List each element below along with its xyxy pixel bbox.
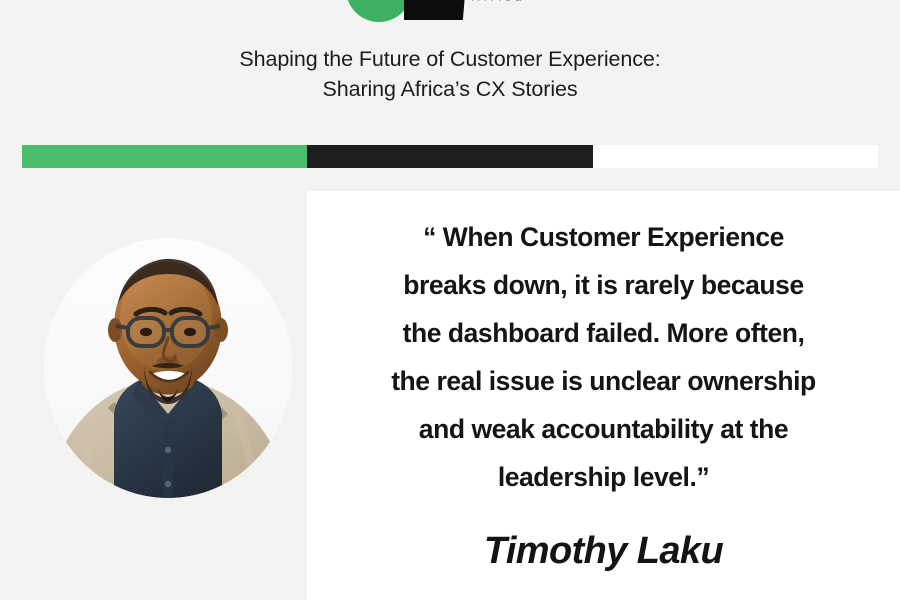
page-title: Shaping the Future of Customer Experienc…	[0, 44, 900, 104]
avatar	[44, 238, 292, 498]
speaker-name: Timothy Laku	[321, 527, 886, 575]
progress-bar	[22, 145, 878, 168]
quote-line-4: the real issue is unclear ownership	[391, 366, 816, 396]
quote-line-5: and weak accountability at the	[419, 414, 788, 444]
logo-green-circle-icon	[346, 0, 412, 22]
page-title-line-2: Sharing Africa’s CX Stories	[0, 74, 900, 104]
quote-line-6: leadership level.”	[498, 462, 709, 492]
quote-card: “ When Customer Experience breaks down, …	[307, 191, 900, 600]
portrait-photo	[44, 238, 292, 498]
progress-bar-segment-black	[307, 145, 593, 168]
progress-bar-segment-green	[22, 145, 307, 168]
logo-wordmark: Africa	[472, 0, 525, 4]
logo-black-blade-icon	[404, 0, 468, 20]
quote-line-2: breaks down, it is rarely because	[403, 270, 804, 300]
page-title-line-1: Shaping the Future of Customer Experienc…	[239, 47, 660, 71]
progress-bar-segment-white	[593, 145, 878, 168]
quote-line-1: “ When Customer Experience	[423, 222, 784, 252]
brand-logo: Africa	[0, 0, 900, 24]
quote-line-3: the dashboard failed. More often,	[403, 318, 805, 348]
slide-canvas: Africa Shaping the Future of Customer Ex…	[0, 0, 900, 600]
quote-text: “ When Customer Experience breaks down, …	[321, 213, 886, 501]
